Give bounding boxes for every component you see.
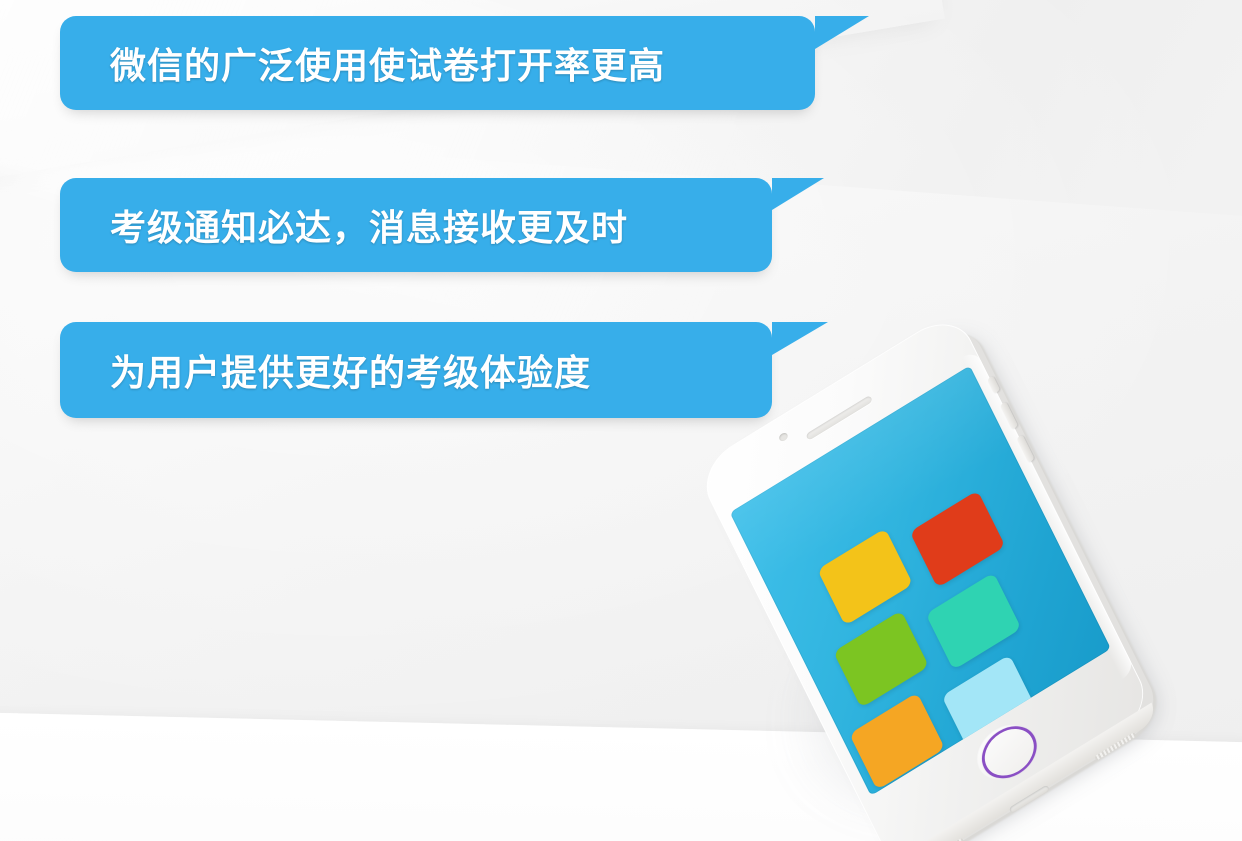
speech-bubble-1-tail (815, 16, 869, 49)
speech-bubble-2-tail (772, 178, 824, 210)
speech-bubble-2-label: 考级通知必达，消息接收更及时 (60, 199, 628, 251)
speech-bubble-1-label: 微信的广泛使用使试卷打开率更高 (60, 37, 665, 89)
app-tile-teal[interactable] (926, 572, 1022, 670)
promo-banner: 微信的广泛使用使试卷打开率更高 考级通知必达，消息接收更及时 为用户提供更好的考… (0, 0, 1242, 841)
speech-bubble-1: 微信的广泛使用使试卷打开率更高 (60, 16, 815, 110)
speech-bubble-2: 考级通知必达，消息接收更及时 (60, 178, 772, 272)
speech-bubble-3-label: 为用户提供更好的考级体验度 (60, 344, 591, 396)
speaker-grille-left-icon (922, 837, 964, 841)
phone-illustration (600, 320, 1242, 760)
app-tile-red[interactable] (910, 490, 1006, 588)
app-tile-yellow[interactable] (817, 528, 913, 626)
app-tile-green[interactable] (833, 610, 929, 708)
